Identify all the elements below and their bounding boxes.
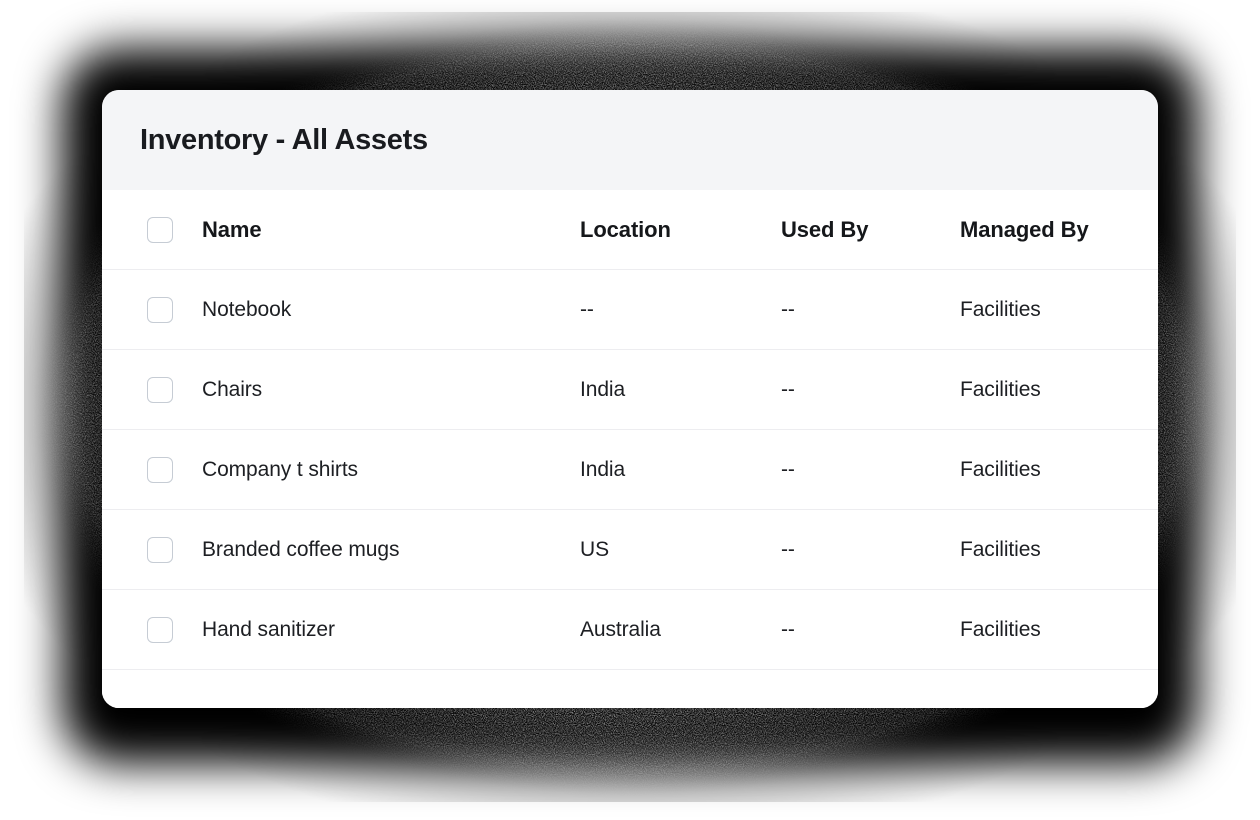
cell-managed-by: Facilities <box>960 618 1158 642</box>
inventory-table: Name Location Used By Managed By Noteboo… <box>102 190 1158 708</box>
row-checkbox[interactable] <box>147 377 173 403</box>
table-footer <box>102 670 1158 708</box>
row-checkbox[interactable] <box>147 617 173 643</box>
cell-location: -- <box>580 298 781 322</box>
table-row[interactable]: Chairs India -- Facilities <box>102 350 1158 430</box>
cell-name: Hand sanitizer <box>202 618 580 642</box>
cell-used-by: -- <box>781 618 960 642</box>
cell-used-by: -- <box>781 458 960 482</box>
row-checkbox-cell[interactable] <box>147 457 202 483</box>
cell-name: Notebook <box>202 298 580 322</box>
cell-managed-by: Facilities <box>960 458 1158 482</box>
inventory-card: Inventory - All Assets Name Location Use… <box>102 90 1158 708</box>
cell-name: Branded coffee mugs <box>202 538 580 562</box>
table-row[interactable]: Notebook -- -- Facilities <box>102 270 1158 350</box>
cell-used-by: -- <box>781 378 960 402</box>
card-header: Inventory - All Assets <box>102 90 1158 190</box>
column-header-location[interactable]: Location <box>580 217 781 243</box>
row-checkbox[interactable] <box>147 297 173 323</box>
table-row[interactable]: Branded coffee mugs US -- Facilities <box>102 510 1158 590</box>
cell-name: Chairs <box>202 378 580 402</box>
select-all-checkbox-cell[interactable] <box>147 217 202 243</box>
column-header-managed-by[interactable]: Managed By <box>960 217 1158 243</box>
row-checkbox[interactable] <box>147 457 173 483</box>
cell-used-by: -- <box>781 538 960 562</box>
screen: Inventory - All Assets Name Location Use… <box>0 0 1260 820</box>
row-checkbox-cell[interactable] <box>147 537 202 563</box>
table-row[interactable]: Hand sanitizer Australia -- Facilities <box>102 590 1158 670</box>
row-checkbox-cell[interactable] <box>147 297 202 323</box>
cell-location: India <box>580 378 781 402</box>
table-row[interactable]: Company t shirts India -- Facilities <box>102 430 1158 510</box>
row-checkbox[interactable] <box>147 537 173 563</box>
cell-location: India <box>580 458 781 482</box>
cell-name: Company t shirts <box>202 458 580 482</box>
row-checkbox-cell[interactable] <box>147 377 202 403</box>
select-all-checkbox[interactable] <box>147 217 173 243</box>
cell-location: US <box>580 538 781 562</box>
cell-managed-by: Facilities <box>960 298 1158 322</box>
cell-managed-by: Facilities <box>960 538 1158 562</box>
column-header-used-by[interactable]: Used By <box>781 217 960 243</box>
row-checkbox-cell[interactable] <box>147 617 202 643</box>
cell-location: Australia <box>580 618 781 642</box>
column-header-name[interactable]: Name <box>202 217 580 243</box>
cell-managed-by: Facilities <box>960 378 1158 402</box>
cell-used-by: -- <box>781 298 960 322</box>
table-header-row: Name Location Used By Managed By <box>102 190 1158 270</box>
page-title: Inventory - All Assets <box>140 126 428 155</box>
